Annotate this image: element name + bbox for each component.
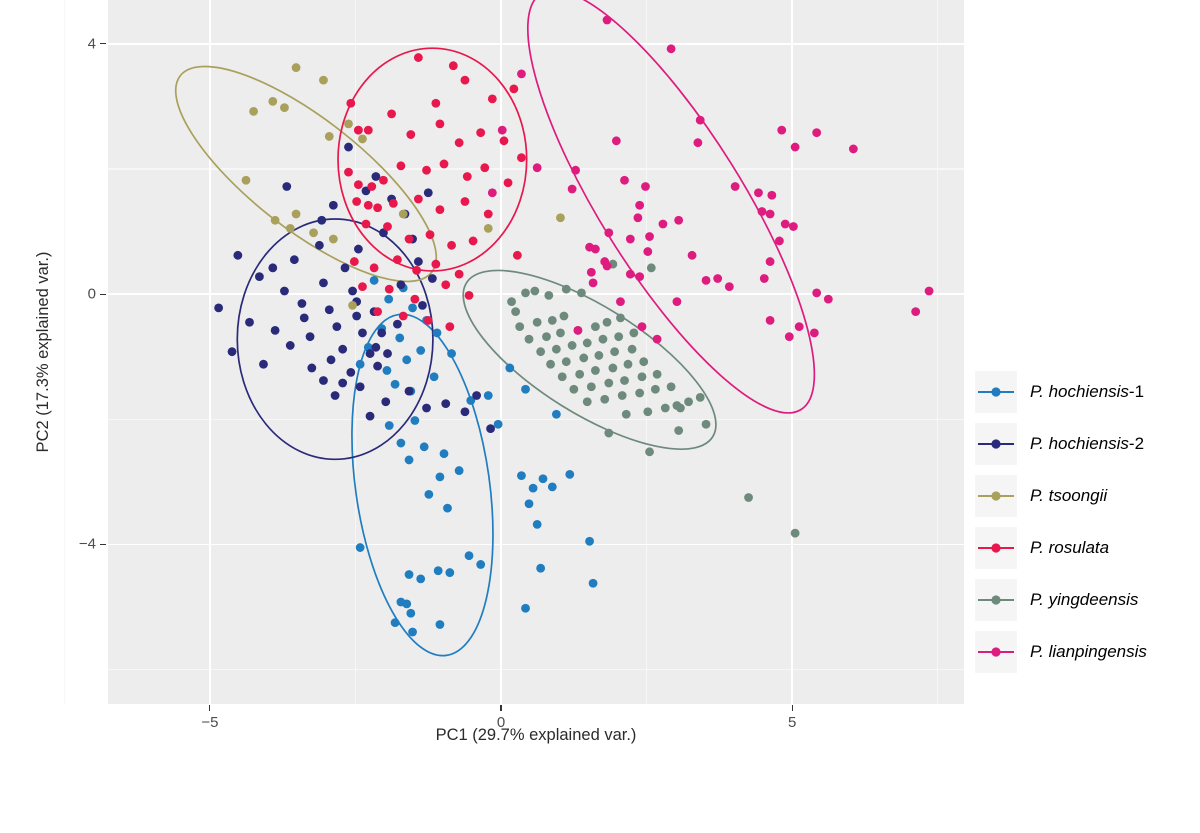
scatter-point: [228, 347, 237, 356]
scatter-point: [781, 220, 790, 229]
legend-item-p-tsoongii[interactable]: P. tsoongii: [975, 470, 1195, 522]
scatter-point: [436, 120, 445, 129]
line-point-icon: [976, 382, 1016, 402]
y-axis-tick-label: 4: [60, 35, 96, 52]
scatter-point: [436, 620, 445, 629]
scatter-point: [422, 166, 431, 175]
scatter-point: [616, 297, 625, 306]
scatter-point: [447, 241, 456, 250]
scatter-point: [702, 276, 711, 285]
legend-item-p-rosulata[interactable]: P. rosulata: [975, 522, 1195, 574]
scatter-point: [416, 346, 425, 355]
scatter-point: [367, 182, 376, 191]
scatter-point: [688, 251, 697, 260]
scatter-point: [338, 345, 347, 354]
scatter-point: [348, 287, 357, 296]
scatter-point: [696, 393, 705, 402]
scatter-point: [702, 420, 711, 429]
x-axis-tick-mark: [792, 705, 793, 711]
scatter-point: [544, 291, 553, 300]
scatter-point: [358, 135, 367, 144]
scatter-point: [356, 360, 365, 369]
scatter-point: [511, 307, 520, 316]
scatter-point: [824, 295, 833, 304]
scatter-point: [346, 368, 355, 377]
legend-item-p-lianpingensis[interactable]: P. lianpingensis: [975, 626, 1195, 678]
scatter-point: [568, 341, 577, 350]
scatter-point: [319, 278, 328, 287]
scatter-point: [556, 329, 565, 338]
scatter-point: [525, 499, 534, 508]
scatter-point: [480, 163, 489, 172]
scatter-point: [494, 420, 503, 429]
scatter-point: [509, 84, 518, 93]
scatter-point: [517, 153, 526, 162]
scatter-point: [517, 69, 526, 78]
scatter-point: [344, 143, 353, 152]
scatter-point: [504, 178, 513, 187]
scatter-point: [643, 407, 652, 416]
gridline-minor-vertical: [64, 0, 65, 704]
scatter-point: [594, 351, 603, 360]
scatter-point: [397, 439, 406, 448]
scatter-point: [344, 120, 353, 129]
scatter-point: [214, 303, 223, 312]
scatter-point: [476, 128, 485, 137]
scatter-point: [731, 182, 740, 191]
scatter-point: [395, 334, 404, 343]
scatter-point: [635, 272, 644, 281]
scatter-point: [418, 301, 427, 310]
scatter-point: [443, 504, 452, 513]
scatter-point: [408, 303, 417, 312]
scatter-point: [420, 442, 429, 451]
scatter-point: [647, 263, 656, 272]
scatter-point: [280, 287, 289, 296]
legend-item-p-yingdeensis[interactable]: P. yingdeensis: [975, 574, 1195, 626]
scatter-point: [488, 188, 497, 197]
scatter-point: [255, 272, 264, 281]
scatter-point: [525, 335, 534, 344]
scatter-point: [307, 364, 316, 373]
scatter-point: [309, 228, 318, 237]
plot-marks-layer: [108, 0, 964, 704]
legend-item-label: P. rosulata: [1030, 538, 1109, 558]
scatter-point: [364, 201, 373, 210]
legend-item-label: P. hochiensis-1: [1030, 382, 1144, 402]
scatter-point: [445, 322, 454, 331]
scatter-point: [484, 210, 493, 219]
species-suffix: -2: [1129, 434, 1144, 453]
scatter-point: [436, 472, 445, 481]
scatter-point: [424, 316, 433, 325]
scatter-point: [810, 329, 819, 338]
scatter-point: [461, 407, 470, 416]
scatter-point: [587, 268, 596, 277]
scatter-point: [414, 53, 423, 62]
species-name: P. hochiensis: [1030, 382, 1129, 401]
scatter-point: [249, 107, 258, 116]
scatter-point: [533, 163, 542, 172]
scatter-point: [445, 568, 454, 577]
scatter-point: [405, 387, 414, 396]
scatter-point: [352, 312, 361, 321]
scatter-point: [354, 126, 363, 135]
scatter-point: [760, 274, 769, 283]
scatter-point: [405, 235, 414, 244]
scatter-point: [795, 322, 804, 331]
scatter-point: [362, 220, 371, 229]
scatter-point: [402, 355, 411, 364]
scatter-point: [290, 255, 299, 264]
scatter-point: [767, 191, 776, 200]
scatter-point: [406, 130, 415, 139]
scatter-point: [242, 176, 251, 185]
scatter-point: [667, 382, 676, 391]
scatter-point: [387, 109, 396, 118]
scatter-point: [325, 132, 334, 141]
scatter-point: [568, 185, 577, 194]
scatter-point: [577, 288, 586, 297]
scatter-point: [410, 416, 419, 425]
y-axis-tick-mark: [100, 43, 106, 44]
scatter-point: [338, 379, 347, 388]
scatter-point: [693, 138, 702, 147]
scatter-point: [358, 329, 367, 338]
scatter-point: [393, 320, 402, 329]
scatter-point: [634, 213, 643, 222]
scatter-point: [356, 382, 365, 391]
scatter-point: [406, 609, 415, 618]
scatter-point: [424, 188, 433, 197]
scatter-point: [638, 322, 647, 331]
legend-item-label: P. tsoongii: [1030, 486, 1107, 506]
scatter-point: [271, 326, 280, 335]
scatter-point: [399, 312, 408, 321]
plot-panel: [108, 0, 964, 704]
scatter-point: [618, 391, 627, 400]
scatter-point: [259, 360, 268, 369]
scatter-point: [616, 313, 625, 322]
y-axis-title-holder: PC2 (17.3% explained var.): [34, 0, 60, 704]
scatter-point: [552, 410, 561, 419]
scatter-point: [449, 61, 458, 70]
scatter-point: [713, 274, 722, 283]
scatter-point: [515, 322, 524, 331]
scatter-point: [414, 195, 423, 204]
scatter-point: [391, 618, 400, 627]
scatter-point: [370, 276, 379, 285]
scatter-point: [325, 305, 334, 314]
scatter-point: [659, 220, 668, 229]
scatter-point: [635, 389, 644, 398]
scatter-point: [676, 404, 685, 413]
scatter-point: [667, 44, 676, 53]
scatter-point: [286, 341, 295, 350]
scatter-point: [612, 136, 621, 145]
scatter-point: [385, 421, 394, 430]
scatter-point: [571, 166, 580, 175]
scatter-point: [331, 391, 340, 400]
scatter-point: [431, 99, 440, 108]
scatter-point: [426, 230, 435, 239]
scatter-point: [529, 484, 538, 493]
scatter-point: [673, 297, 682, 306]
scatter-point: [603, 262, 612, 271]
scatter-point: [447, 349, 456, 358]
scatter-point: [638, 372, 647, 381]
scatter-point: [651, 385, 660, 394]
scatter-point: [603, 318, 612, 327]
scatter-point: [455, 138, 464, 147]
species-suffix: -1: [1129, 382, 1144, 401]
scatter-point: [629, 329, 638, 338]
scatter-point: [488, 94, 497, 103]
scatter-point: [552, 345, 561, 354]
scatter-point: [383, 222, 392, 231]
legend-item-p-hochiensis[interactable]: P. hochiensis-2: [975, 418, 1195, 470]
scatter-point: [589, 278, 598, 287]
legend-item-label: P. lianpingensis: [1030, 642, 1147, 662]
y-axis-tick-label: −4: [60, 536, 96, 553]
scatter-point: [434, 566, 443, 575]
scatter-point: [812, 128, 821, 137]
species-name: P. yingdeensis: [1030, 590, 1138, 609]
scatter-point: [775, 237, 784, 246]
scatter-point: [777, 126, 786, 135]
scatter-point: [461, 76, 470, 85]
scatter-point: [766, 257, 775, 266]
scatter-point: [433, 329, 442, 338]
scatter-point: [620, 376, 629, 385]
line-point-icon: [976, 486, 1016, 506]
scatter-point: [548, 482, 557, 491]
scatter-point: [645, 232, 654, 241]
scatter-point: [384, 295, 393, 304]
scatter-point: [600, 395, 609, 404]
species-name: P. hochiensis: [1030, 434, 1129, 453]
scatter-point: [575, 370, 584, 379]
scatter-point: [536, 347, 545, 356]
x-axis-tick-mark: [209, 705, 210, 711]
scatter-point: [533, 520, 542, 529]
scatter-point: [589, 579, 598, 588]
scatter-point: [346, 99, 355, 108]
scatter-point: [245, 318, 254, 327]
scatter-point: [635, 201, 644, 210]
scatter-point: [377, 329, 386, 338]
scatter-point: [476, 560, 485, 569]
scatter-point: [521, 385, 530, 394]
scatter-point: [379, 176, 388, 185]
scatter-point: [405, 570, 414, 579]
legend-key-swatch: [975, 371, 1017, 413]
scatter-point: [391, 380, 400, 389]
scatter-point: [610, 347, 619, 356]
scatter-point: [641, 182, 650, 191]
scatter-point: [465, 291, 474, 300]
line-point-icon: [976, 642, 1016, 662]
scatter-point: [315, 241, 324, 250]
scatter-point: [298, 299, 307, 308]
scatter-point: [507, 297, 516, 306]
scatter-point: [280, 103, 289, 112]
scatter-point: [282, 182, 291, 191]
scatter-point: [356, 543, 365, 552]
scatter-point: [268, 97, 277, 106]
scatter-point: [440, 449, 449, 458]
scatter-point: [653, 335, 662, 344]
scatter-point: [754, 188, 763, 197]
y-axis-tick-label: 0: [60, 286, 96, 303]
scatter-point: [911, 307, 920, 316]
scatter-point: [628, 345, 637, 354]
scatter-point: [484, 391, 493, 400]
scatter-point: [583, 397, 592, 406]
scatter-point: [498, 126, 507, 135]
scatter-point: [397, 161, 406, 170]
scatter-point: [591, 366, 600, 375]
scatter-point: [925, 287, 934, 296]
scatter-point: [684, 397, 693, 406]
y-axis-tick-mark: [100, 544, 106, 545]
scatter-point: [422, 404, 431, 413]
legend-item-p-hochiensis[interactable]: P. hochiensis-1: [975, 366, 1195, 418]
scatter-point: [317, 216, 326, 225]
scatter-point: [548, 316, 557, 325]
scatter-point: [371, 343, 380, 352]
confidence-ellipse: [332, 305, 513, 664]
scatter-point: [674, 216, 683, 225]
legend-key-swatch: [975, 631, 1017, 673]
scatter-point: [521, 604, 530, 613]
scatter-point: [533, 318, 542, 327]
scatter-point: [354, 180, 363, 189]
scatter-point: [603, 16, 612, 25]
scatter-point: [661, 404, 670, 413]
scatter-point: [440, 160, 449, 169]
scatter-point: [505, 364, 514, 373]
scatter-point: [530, 287, 539, 296]
scatter-point: [358, 282, 367, 291]
scatter-point: [812, 288, 821, 297]
scatter-point: [579, 354, 588, 363]
scatter-point: [292, 210, 301, 219]
scatter-point: [696, 116, 705, 125]
scatter-point: [332, 322, 341, 331]
scatter-point: [626, 235, 635, 244]
scatter-point: [329, 235, 338, 244]
scatter-point: [424, 490, 433, 499]
scatter-point: [373, 203, 382, 212]
scatter-point: [463, 172, 472, 181]
legend-key-swatch: [975, 475, 1017, 517]
scatter-point: [306, 332, 315, 341]
legend-item-label: P. yingdeensis: [1030, 590, 1138, 610]
scatter-point: [455, 270, 464, 279]
scatter-point: [608, 364, 617, 373]
scatter-point: [500, 136, 509, 145]
scatter-point: [366, 412, 375, 421]
confidence-ellipse: [481, 0, 861, 447]
scatter-point: [373, 362, 382, 371]
scatter-point: [599, 335, 608, 344]
line-point-icon: [976, 538, 1016, 558]
scatter-point: [383, 366, 392, 375]
scatter-point: [268, 263, 277, 272]
scatter-point: [371, 172, 380, 181]
scatter-point: [465, 551, 474, 560]
scatter-point: [408, 628, 417, 637]
scatter-point: [513, 251, 522, 260]
pca-scatter-plot: −505−404 PC1 (29.7% explained var.) PC2 …: [0, 0, 1200, 833]
legend-key-swatch: [975, 527, 1017, 569]
scatter-point: [536, 564, 545, 573]
scatter-point: [639, 357, 648, 366]
scatter-point: [587, 382, 596, 391]
scatter-point: [643, 247, 652, 256]
scatter-point: [319, 376, 328, 385]
scatter-point: [766, 316, 775, 325]
scatter-point: [383, 349, 392, 358]
scatter-point: [789, 222, 798, 231]
scatter-point: [614, 332, 623, 341]
scatter-point: [484, 224, 493, 233]
scatter-point: [791, 143, 800, 152]
scatter-point: [558, 372, 567, 381]
scatter-point: [300, 313, 309, 322]
scatter-point: [329, 201, 338, 210]
scatter-point: [286, 224, 295, 233]
scatter-point: [560, 312, 569, 321]
scatter-point: [585, 537, 594, 546]
scatter-point: [327, 355, 336, 364]
scatter-point: [397, 280, 406, 289]
scatter-point: [653, 370, 662, 379]
scatter-point: [233, 251, 242, 260]
scatter-point: [556, 213, 565, 222]
scatter-point: [428, 274, 437, 283]
legend-item-label: P. hochiensis-2: [1030, 434, 1144, 454]
scatter-point: [604, 379, 613, 388]
scatter-point: [431, 260, 440, 269]
scatter-point: [486, 424, 495, 433]
species-name: P. lianpingensis: [1030, 642, 1147, 661]
scatter-point: [344, 168, 353, 177]
legend: P. hochiensis-1P. hochiensis-2P. tsoongi…: [975, 366, 1195, 678]
legend-key-swatch: [975, 423, 1017, 465]
scatter-point: [441, 399, 450, 408]
scatter-point: [574, 326, 583, 335]
scatter-point: [569, 385, 578, 394]
scatter-point: [430, 372, 439, 381]
scatter-point: [410, 295, 419, 304]
species-name: P. rosulata: [1030, 538, 1109, 557]
scatter-point: [399, 210, 408, 219]
scatter-point: [469, 237, 478, 246]
scatter-point: [414, 257, 423, 266]
scatter-point: [397, 598, 406, 607]
scatter-point: [620, 176, 629, 185]
scatter-point: [542, 332, 551, 341]
scatter-point: [604, 429, 613, 438]
scatter-point: [791, 529, 800, 538]
scatter-point: [645, 447, 654, 456]
scatter-point: [319, 76, 328, 85]
scatter-point: [436, 205, 445, 214]
scatter-point: [758, 207, 767, 216]
scatter-point: [521, 288, 530, 297]
